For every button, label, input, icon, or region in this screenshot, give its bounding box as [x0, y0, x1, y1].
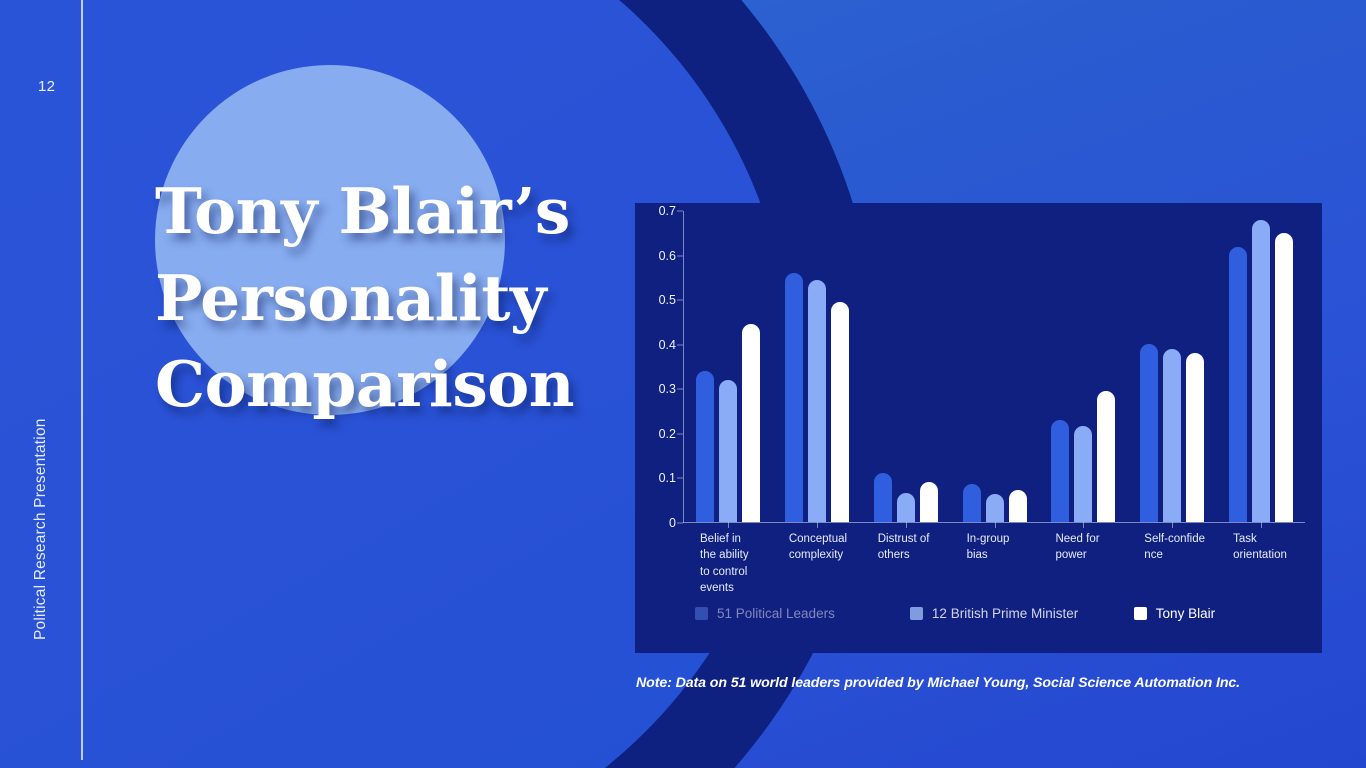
bar-group: [950, 211, 1039, 522]
bar[interactable]: [831, 302, 849, 522]
bar[interactable]: [1229, 247, 1247, 522]
y-tick-label: 0.6: [659, 249, 683, 263]
legend-label: 12 British Prime Minister: [932, 606, 1078, 621]
x-axis-labels: Belief inthe abilityto controleventsConc…: [684, 531, 1306, 596]
bar[interactable]: [1097, 391, 1115, 522]
bar-group: [1039, 211, 1128, 522]
bar[interactable]: [1163, 349, 1181, 522]
x-tick-mark: [1083, 522, 1084, 528]
bar[interactable]: [1140, 344, 1158, 522]
bar[interactable]: [742, 324, 760, 522]
slide-root: 12 Political Research Presentation Tony …: [0, 0, 1366, 768]
chart-plot-area: 0.70.60.50.40.30.20.10: [683, 211, 1305, 523]
bar-group: [1216, 211, 1305, 522]
y-tick-label: 0: [669, 516, 683, 530]
x-tick-mark: [1172, 522, 1173, 528]
y-tick-label: 0.5: [659, 293, 683, 307]
bar[interactable]: [1051, 420, 1069, 522]
bar[interactable]: [986, 494, 1004, 522]
bar[interactable]: [719, 380, 737, 522]
y-tick-label: 0.7: [659, 204, 683, 218]
x-tick-mark: [995, 522, 996, 528]
bar[interactable]: [1252, 220, 1270, 522]
y-tick-label: 0.4: [659, 338, 683, 352]
x-tick-mark: [728, 522, 729, 528]
x-axis-label: Belief inthe abilityto controlevents: [684, 531, 773, 596]
bar[interactable]: [785, 273, 803, 522]
legend-item[interactable]: 12 British Prime Minister: [910, 606, 1134, 621]
bar[interactable]: [1074, 426, 1092, 522]
bar[interactable]: [920, 482, 938, 522]
chart-source-note: Note: Data on 51 world leaders provided …: [636, 675, 1240, 691]
x-tick-mark: [906, 522, 907, 528]
bar-group: [684, 211, 773, 522]
bar[interactable]: [963, 484, 981, 522]
page-number: 12: [38, 78, 55, 95]
bar[interactable]: [897, 493, 915, 522]
x-axis-label: Taskorientation: [1217, 531, 1306, 596]
presentation-rail-label: Political Research Presentation: [32, 410, 50, 640]
bar[interactable]: [1186, 353, 1204, 522]
x-axis-label: Conceptualcomplexity: [773, 531, 862, 596]
x-axis-label: In-groupbias: [951, 531, 1040, 596]
bar[interactable]: [1275, 233, 1293, 522]
x-tick-mark: [817, 522, 818, 528]
legend-label: Tony Blair: [1156, 606, 1215, 621]
chart-bars: [684, 211, 1305, 522]
page-title: Tony Blair’s Personality Comparison: [155, 168, 625, 427]
bar[interactable]: [1009, 490, 1027, 522]
x-tick-mark: [1261, 522, 1262, 528]
y-tick-label: 0.2: [659, 427, 683, 441]
legend-label: 51 Political Leaders: [717, 606, 835, 621]
bar[interactable]: [808, 280, 826, 522]
legend-item[interactable]: 51 Political Leaders: [695, 606, 910, 621]
bar-group: [773, 211, 862, 522]
bar-group: [861, 211, 950, 522]
y-tick-label: 0.3: [659, 382, 683, 396]
x-axis-label: Need forpower: [1039, 531, 1128, 596]
x-axis-label: Self-confidence: [1128, 531, 1217, 596]
y-tick-label: 0.1: [659, 471, 683, 485]
x-axis-label: Distrust ofothers: [862, 531, 951, 596]
bar[interactable]: [874, 473, 892, 522]
chart-panel: 0.70.60.50.40.30.20.10 Belief inthe abil…: [635, 203, 1322, 653]
chart-legend: 51 Political Leaders12 British Prime Min…: [695, 606, 1295, 621]
legend-swatch-icon: [695, 607, 708, 620]
vertical-divider-line: [81, 0, 83, 760]
legend-swatch-icon: [1134, 607, 1147, 620]
legend-item[interactable]: Tony Blair: [1134, 606, 1295, 621]
bar[interactable]: [696, 371, 714, 522]
bar-group: [1128, 211, 1217, 522]
legend-swatch-icon: [910, 607, 923, 620]
